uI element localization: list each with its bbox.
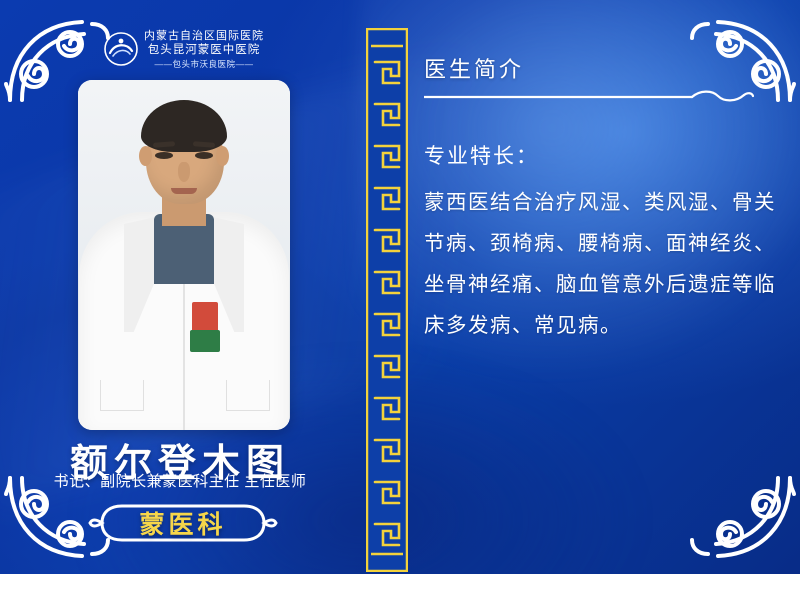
specialty-heading: 专业特长： — [424, 140, 539, 170]
ear-left — [139, 146, 152, 166]
right-panel: 医生简介 专业特长： 蒙西医结合治疗风湿、类风湿、骨关节病、颈椅病、腰椅病、面神… — [416, 0, 800, 600]
hospital-emblem-icon — [104, 32, 138, 66]
mouth-shape — [171, 188, 197, 194]
bottom-white-bar — [0, 574, 800, 600]
section-title: 医生简介 — [424, 52, 524, 84]
eye-right — [195, 152, 213, 159]
hospital-name-line3: ——包头市沃良医院—— — [154, 60, 253, 70]
nose-shape — [178, 162, 190, 182]
ear-right — [216, 146, 229, 166]
department-label: 蒙医科 — [88, 502, 278, 544]
doctor-portrait-illustration — [78, 80, 290, 430]
left-panel: 内蒙古自治区国际医院 包头昆河蒙医中医院 ——包头市沃良医院—— — [0, 0, 360, 600]
poster-root: 内蒙古自治区国际医院 包头昆河蒙医中医院 ——包头市沃良医院—— — [0, 0, 800, 600]
hospital-logo: 内蒙古自治区国际医院 包头昆河蒙医中医院 ——包头市沃良医院—— — [104, 30, 304, 70]
title-underline-flourish-icon — [424, 88, 754, 104]
specialty-body: 蒙西医结合治疗风湿、类风湿、骨关节病、颈椅病、腰椅病、面神经炎、坐骨神经痛、脑血… — [424, 182, 780, 346]
hospital-logo-text: 内蒙古自治区国际医院 包头昆河蒙医中医院 ——包头市沃良医院—— — [144, 30, 264, 70]
doctor-photo — [78, 80, 290, 430]
doctor-title: 书记、副院长兼蒙医科主任 主任医师 — [0, 470, 360, 491]
coat-center-seam — [183, 282, 185, 430]
hospital-name-line2: 包头昆河蒙医中医院 — [148, 44, 261, 57]
coat-pocket-right — [226, 380, 270, 411]
mongolian-pattern-band-icon — [366, 28, 408, 572]
hospital-name-line1: 内蒙古自治区国际医院 — [144, 30, 264, 43]
coat-badge-green — [190, 330, 220, 352]
coat-pocket-left — [100, 380, 144, 411]
department-ribbon-icon: 蒙医科 — [88, 502, 278, 544]
eye-left — [155, 152, 173, 159]
